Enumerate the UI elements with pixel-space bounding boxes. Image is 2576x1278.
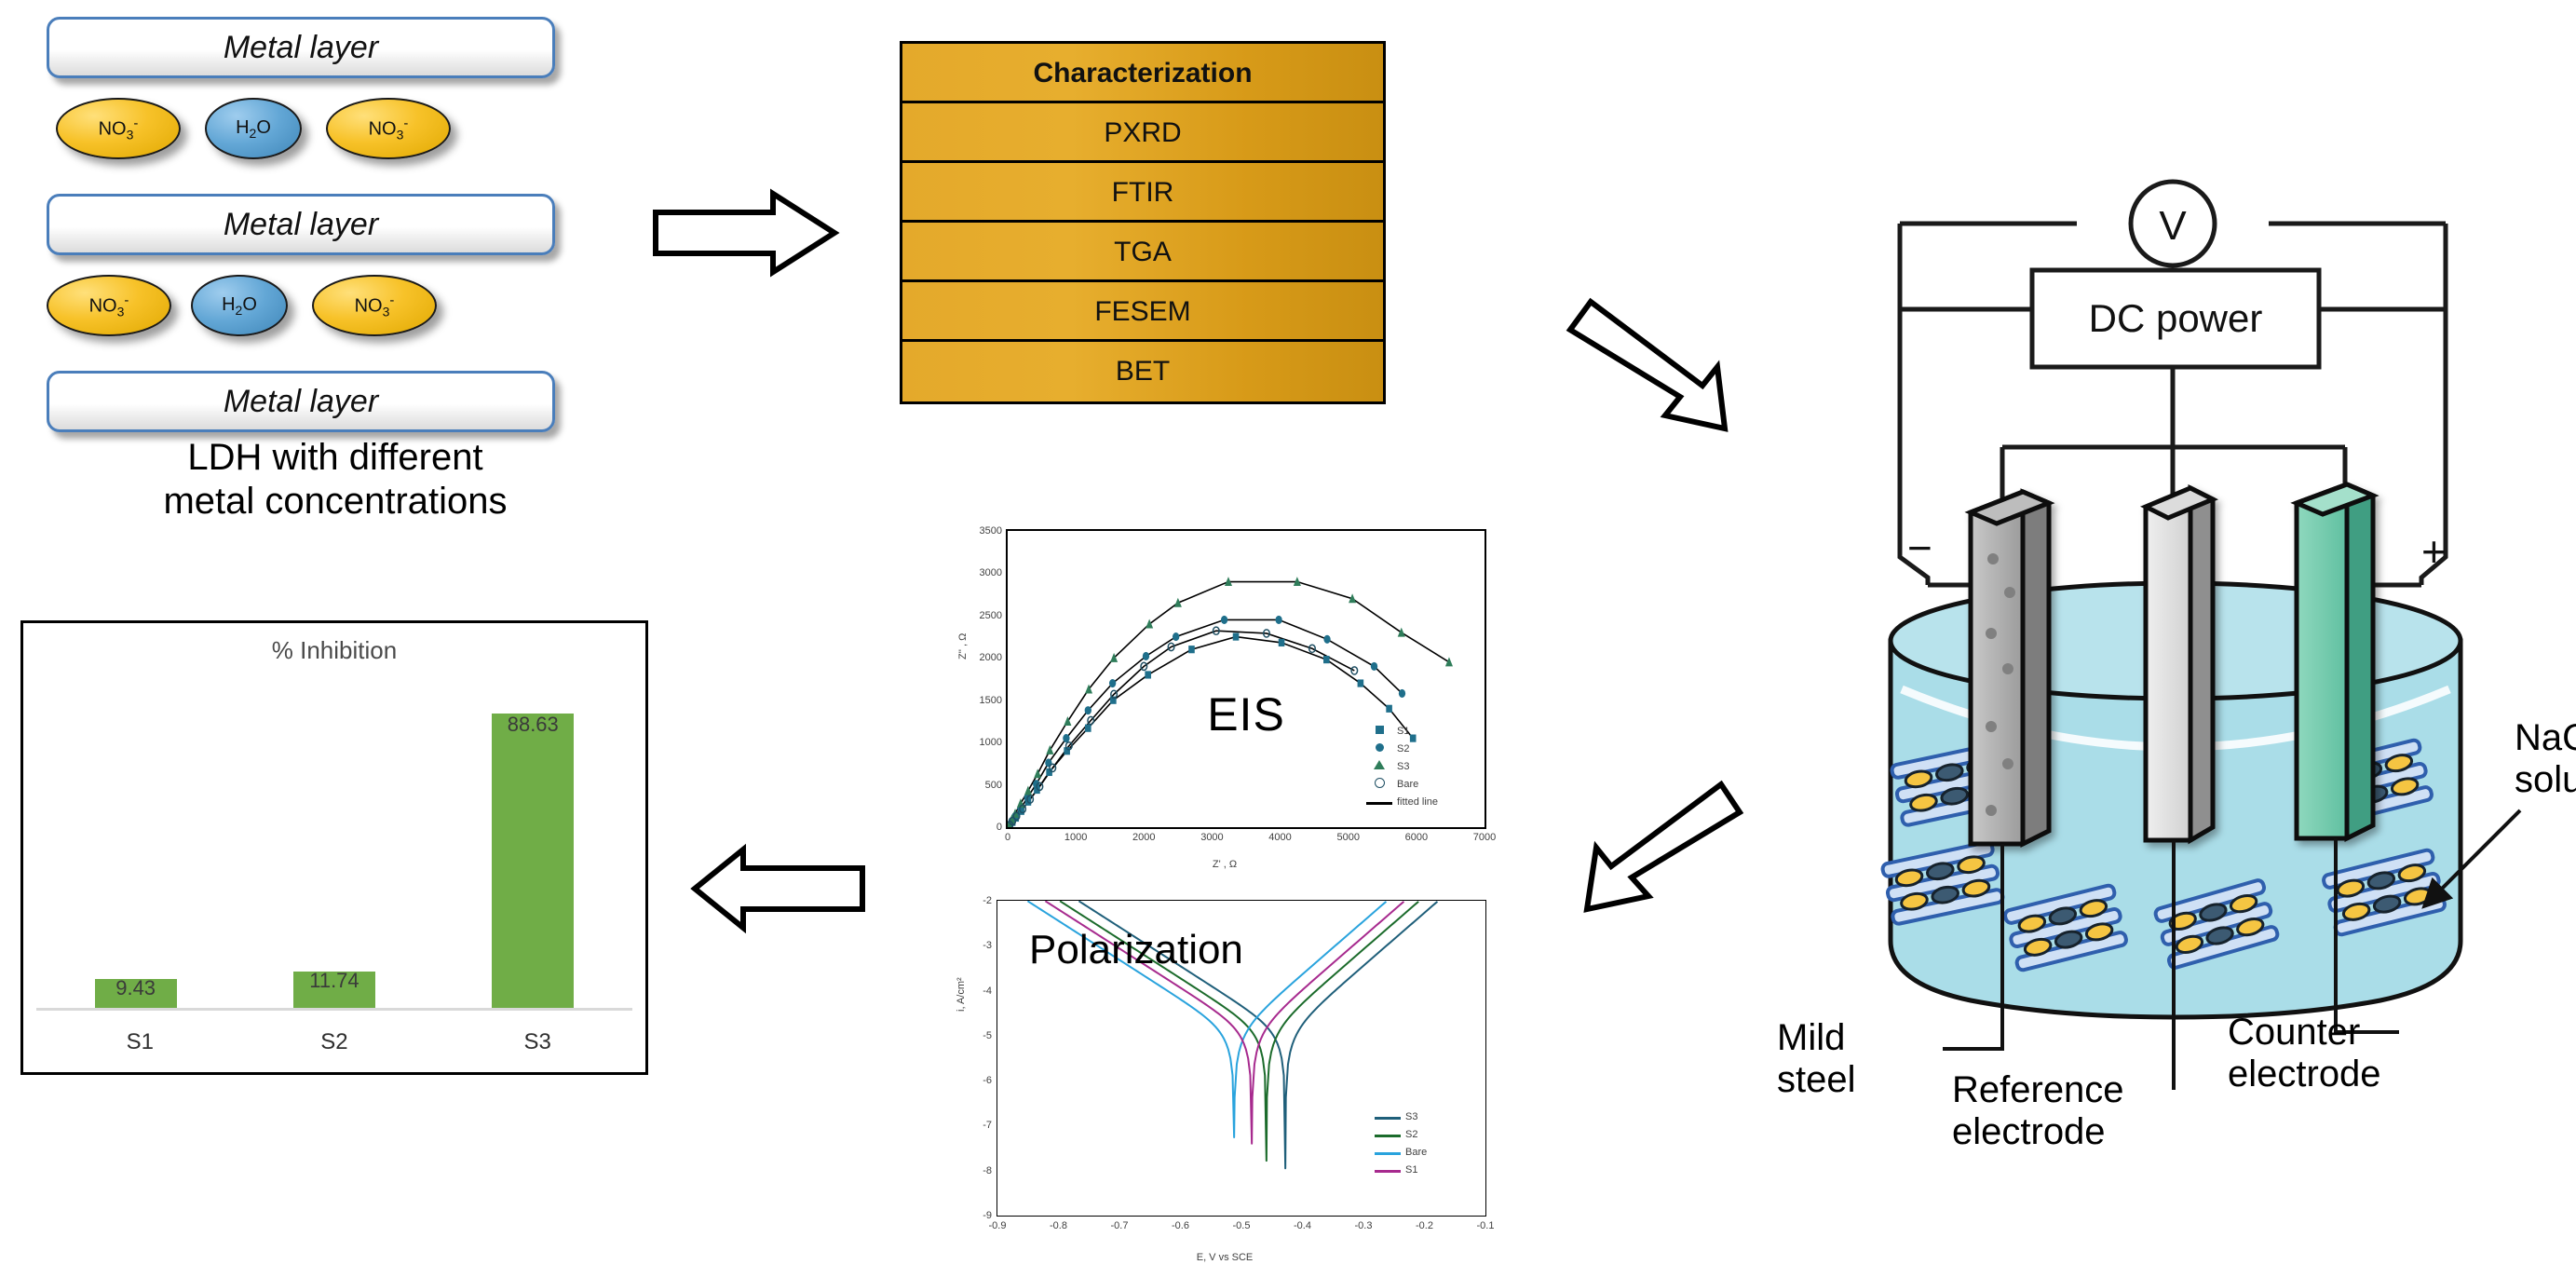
eis-xtick: 1000 [1064, 832, 1087, 843]
polarization-y-axis-label: i, A/cm² [956, 977, 967, 1012]
interlayer-row-top: NO3- H2O NO3- [37, 96, 559, 161]
polarization-plot-area: -2 -3 -4 -5 -6 -7 -8 -9 -0.9 -0.8 -0.7 -… [997, 900, 1486, 1217]
characterization-item-bet: BET [902, 342, 1383, 401]
eis-legend-item-s2: S2 [1365, 740, 1475, 757]
polarization-legend: S3 S2 Bare S1 [1374, 1108, 1476, 1178]
inhibition-category-s2: S2 [231, 1029, 439, 1055]
arrow-ldh-to-characterization [652, 186, 838, 279]
metal-layer-label: Metal layer [224, 30, 378, 66]
metal-layer-middle: Metal layer [47, 194, 555, 255]
metal-layer-label: Metal layer [224, 384, 378, 420]
nitrate-ion: NO3- [47, 275, 171, 336]
pol-ytick: -5 [983, 1030, 992, 1041]
pol-legend-item-s3: S3 [1374, 1108, 1476, 1125]
eis-xtick: 0 [1005, 832, 1010, 843]
pol-legend-item-s2: S2 [1374, 1125, 1476, 1143]
eis-ytick: 0 [997, 822, 1002, 833]
polarization-chart: -2 -3 -4 -5 -6 -7 -8 -9 -0.9 -0.8 -0.7 -… [952, 892, 1498, 1269]
bar-value-s2: 11.74 [309, 969, 359, 993]
eis-ytick: 3000 [980, 567, 1002, 578]
square-marker-icon [1365, 726, 1393, 737]
pol-xtick: -0.8 [1050, 1220, 1067, 1231]
pol-legend-item-s1: S1 [1374, 1161, 1476, 1178]
eis-xtick: 7000 [1473, 832, 1496, 843]
pol-legend-label: S2 [1405, 1129, 1417, 1140]
characterization-header: Characterization [902, 44, 1383, 103]
water-molecule: H2O [191, 275, 288, 336]
pol-ytick: -3 [983, 940, 992, 951]
eis-legend-label: S1 [1397, 726, 1409, 737]
pol-xtick: -0.6 [1172, 1220, 1189, 1231]
line-marker-icon [1374, 1129, 1402, 1140]
pol-ytick: -6 [983, 1075, 992, 1086]
reference-electrode-label: Reference electrode [1952, 1069, 2124, 1153]
nacl-solution-label: NaCl solution [2515, 717, 2576, 801]
characterization-table: Characterization PXRD FTIR TGA FESEM BET [900, 41, 1386, 404]
eis-xtick: 5000 [1336, 832, 1359, 843]
pol-xtick: -0.5 [1233, 1220, 1251, 1231]
pol-ytick: -2 [983, 895, 992, 906]
pol-ytick: -7 [983, 1120, 992, 1131]
eis-legend-item-s1: S1 [1365, 722, 1475, 740]
mild-steel-label: Mild steel [1777, 1017, 1856, 1101]
eis-ytick: 500 [985, 780, 1002, 791]
characterization-item-fesem: FESEM [902, 282, 1383, 342]
pol-xtick: -0.2 [1416, 1220, 1433, 1231]
plus-terminal: + [2421, 527, 2447, 576]
bar-slot-s2: 11.74 [235, 675, 433, 1011]
pol-legend-item-bare: Bare [1374, 1143, 1476, 1161]
reference-electrode [2146, 488, 2213, 840]
inhibition-category-s1: S1 [36, 1029, 244, 1055]
eis-plot-area: 0 500 1000 1500 2000 2500 3000 3500 0 10… [1006, 529, 1486, 829]
inhibition-bar-chart: % Inhibition 9.43 11.74 88.63 S1 S2 S3 [20, 620, 648, 1075]
pol-ytick: -8 [983, 1165, 992, 1176]
electrochemical-cell-panel: V DC power − + [1769, 168, 2576, 1108]
pol-xtick: -0.9 [989, 1220, 1007, 1231]
minus-terminal: − [1907, 523, 1932, 572]
nitrate-ion: NO3- [56, 98, 181, 159]
bar-s3 [492, 714, 574, 1011]
inhibition-category-s3: S3 [434, 1029, 642, 1055]
eis-legend-label: fitted line [1397, 796, 1438, 808]
mild-steel-electrode [1971, 492, 2049, 844]
triangle-marker-icon [1365, 760, 1393, 772]
counter-electrode [2297, 484, 2373, 838]
eis-xtick: 3000 [1200, 832, 1223, 843]
polarization-title: Polarization [1029, 927, 1243, 973]
eis-y-axis-label: Z'' , Ω [957, 633, 969, 659]
cell-diagram: V DC power − + [1769, 168, 2576, 1108]
interlayer-row-bottom: NO3- H2O NO3- [28, 273, 549, 338]
ldh-caption: LDH with different metal concentrations [84, 436, 587, 523]
eis-x-axis-label: Z' , Ω [952, 859, 1498, 870]
inhibition-axis-line [36, 1008, 632, 1011]
eis-legend-label: Bare [1397, 779, 1418, 790]
pol-xtick: -0.7 [1111, 1220, 1129, 1231]
bar-value-s1: 9.43 [115, 976, 156, 1000]
metal-layer-bottom: Metal layer [47, 371, 555, 432]
eis-legend-item-s3: S3 [1365, 757, 1475, 775]
pol-legend-label: Bare [1405, 1147, 1427, 1158]
eis-ytick: 1500 [980, 695, 1002, 706]
arrow-characterization-to-cell [1565, 289, 1742, 438]
nitrate-ion: NO3- [326, 98, 451, 159]
eis-legend-label: S2 [1397, 743, 1409, 755]
ldh-caption-line-2: metal concentrations [84, 480, 587, 523]
ldh-structure-panel: Metal layer NO3- H2O NO3- Metal layer NO… [28, 7, 624, 566]
counter-electrode-label: Counter electrode [2228, 1012, 2381, 1095]
eis-chart: 0 500 1000 1500 2000 2500 3000 3500 0 10… [952, 520, 1498, 876]
polarization-x-axis-label: E, V vs SCE [952, 1252, 1498, 1263]
arrow-plots-to-inhibition [689, 844, 866, 937]
line-marker-icon [1374, 1111, 1402, 1122]
eis-xtick: 4000 [1268, 832, 1291, 843]
eis-ytick: 2000 [980, 652, 1002, 663]
eis-legend-item-bare: Bare [1365, 775, 1475, 793]
eis-legend: S1 S2 S3 Bare fitted line [1365, 722, 1475, 810]
pol-legend-label: S1 [1405, 1164, 1417, 1176]
bar-slot-s3: 88.63 [434, 675, 632, 1011]
eis-xtick: 6000 [1405, 832, 1428, 843]
arrow-cell-to-plots [1574, 773, 1751, 922]
ldh-caption-line-1: LDH with different [84, 436, 587, 480]
bar-value-s3: 88.63 [508, 713, 559, 737]
metal-layer-top: Metal layer [47, 17, 555, 78]
circle-marker-icon [1365, 743, 1393, 755]
line-marker-icon [1365, 796, 1393, 808]
svg-text:V: V [2159, 203, 2187, 249]
eis-ytick: 1000 [980, 737, 1002, 748]
eis-ytick: 2500 [980, 610, 1002, 621]
eis-xtick: 2000 [1132, 832, 1155, 843]
nitrate-ion: NO3- [312, 275, 437, 336]
metal-layer-label: Metal layer [224, 207, 378, 243]
pol-ytick: -4 [983, 986, 992, 997]
pol-legend-label: S3 [1405, 1111, 1417, 1122]
characterization-item-pxrd: PXRD [902, 103, 1383, 163]
line-marker-icon [1374, 1147, 1402, 1158]
pol-xtick: -0.4 [1294, 1220, 1311, 1231]
water-molecule: H2O [205, 98, 302, 159]
characterization-item-tga: TGA [902, 223, 1383, 282]
bar-slot-s1: 9.43 [36, 675, 235, 1011]
pol-xtick: -0.3 [1355, 1220, 1373, 1231]
characterization-item-ftir: FTIR [902, 163, 1383, 223]
eis-legend-label: S3 [1397, 761, 1409, 772]
inhibition-plot-area: 9.43 11.74 88.63 [36, 675, 632, 1011]
eis-ytick: 3500 [980, 525, 1002, 537]
open-circle-marker-icon [1365, 778, 1393, 791]
pol-xtick: -0.1 [1477, 1220, 1495, 1231]
line-marker-icon [1374, 1164, 1402, 1176]
inhibition-chart-title: % Inhibition [23, 636, 645, 665]
svg-text:DC power: DC power [2089, 296, 2263, 340]
eis-legend-item-fitted: fitted line [1365, 793, 1475, 810]
